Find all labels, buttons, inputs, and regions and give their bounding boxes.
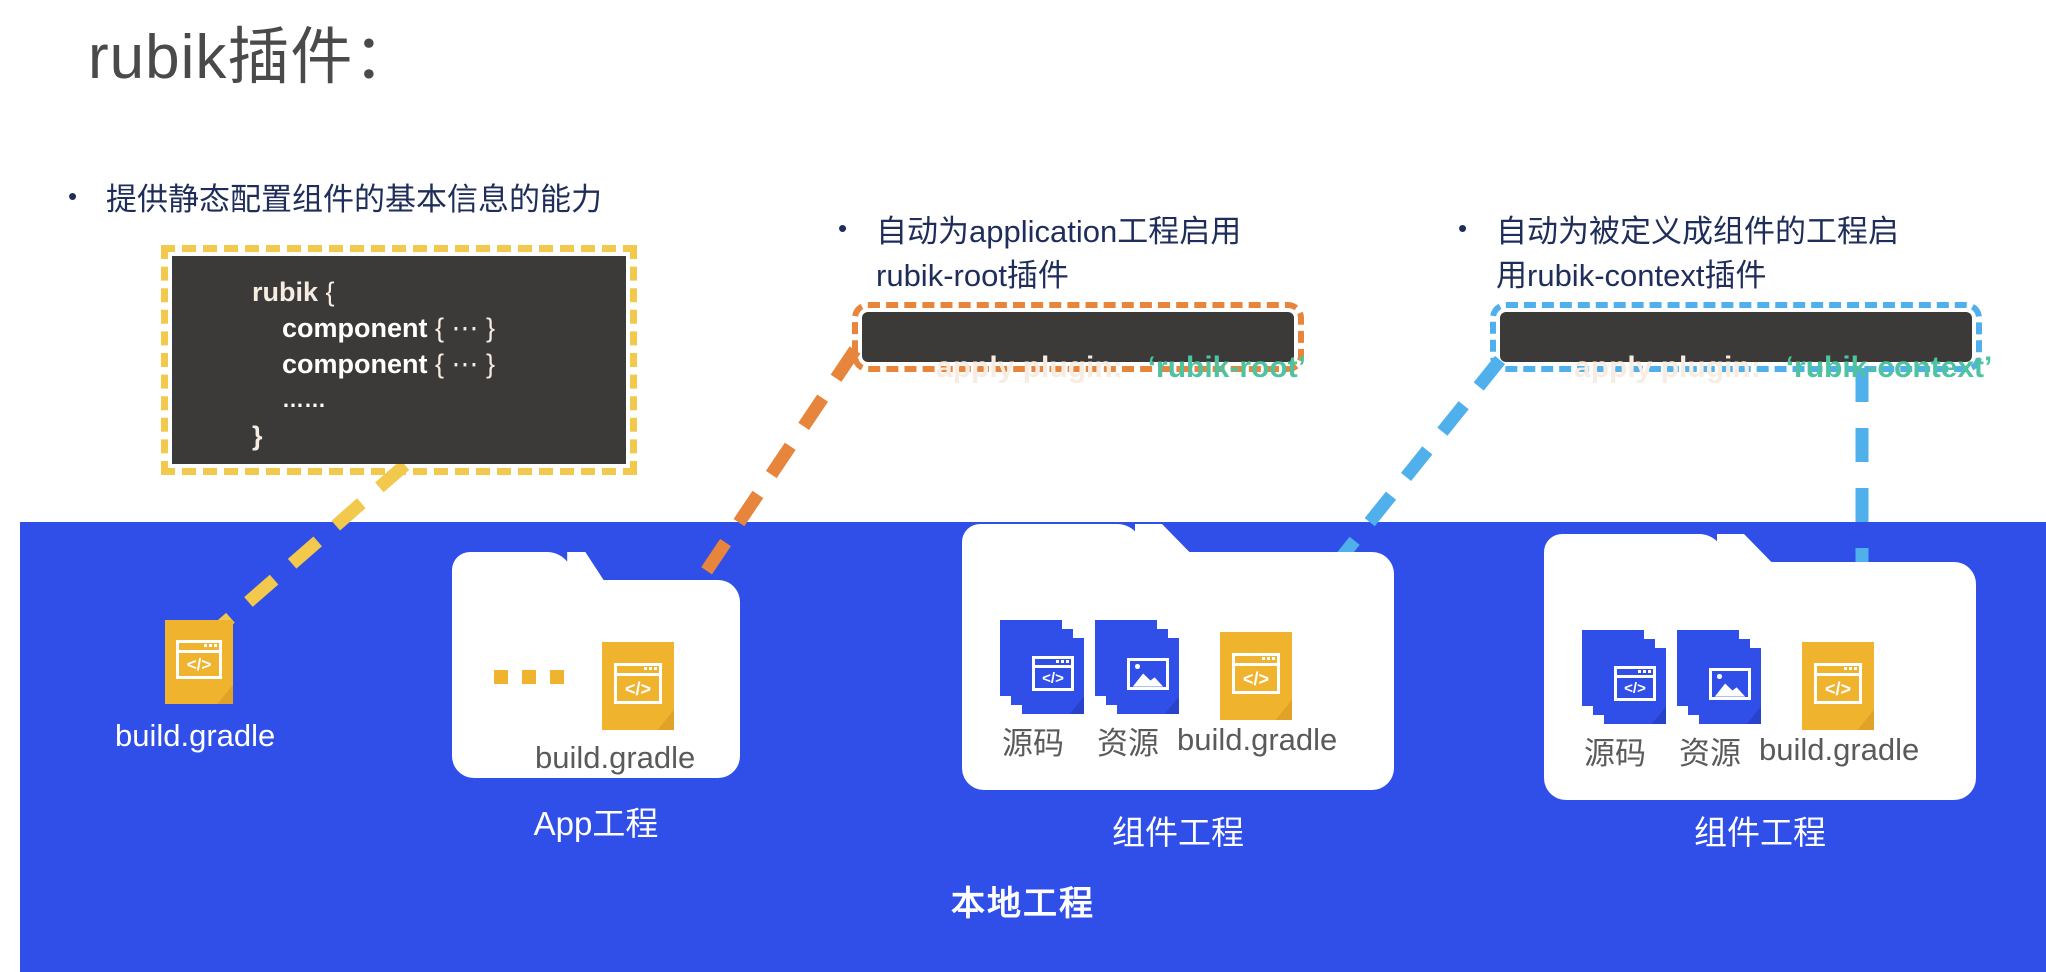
apply-statement: apply plugin: [936,351,1123,384]
resource-stack-icon [1095,620,1187,712]
bullet-label: 自动为被定义成组件的工程启用rubik-context插件 [1496,210,1928,298]
project-card-component-2: </> 源码 资源 [1544,562,1976,800]
code-file-icon: </> [1220,632,1292,720]
bullet-static-config: • 提供静态配置组件的基本信息的能力 [68,178,708,222]
window-titlebar [1035,659,1071,668]
image-mountain [1133,671,1163,687]
image-icon [1709,668,1751,700]
plugin-name: ‘rubik-root’ [1148,351,1306,384]
code-glyph: </> [617,676,660,700]
window-dots-icon [1638,670,1651,673]
code-glyph: </> [1235,666,1278,690]
code-window-icon: </> [614,663,663,703]
file-label: 源码 [1584,728,1646,773]
bullet-dot-icon: • [838,210,847,248]
code-line: rubik { [252,274,495,310]
panel-title: 本地工程 [0,876,2046,925]
code-window-icon: </> [176,640,222,679]
project-label-app: App工程 [452,797,740,845]
window-dots-icon [1056,660,1069,663]
window-dots-icon [1844,667,1857,670]
file-label: 源码 [1002,718,1064,763]
window-dots-icon [1262,657,1275,660]
project-card-app: </> build.gradle [452,580,740,778]
slide-canvas: rubik插件： • 提供静态配置组件的基本信息的能力 rubik { comp… [0,0,2046,972]
ellipsis-icon [494,670,564,684]
file-layer-front: </> [1022,638,1084,714]
window-titlebar [179,643,219,653]
bullet-dot-icon: • [68,178,77,216]
bullet-label: 提供静态配置组件的基本信息的能力 [106,178,708,222]
project-label-component-2: 组件工程 [1544,806,1976,854]
apply-rubik-context-code-block: apply plugin: ‘rubik-context’ [1500,312,1972,362]
code-glyph: </> [1617,678,1653,698]
image-sun [1717,674,1722,679]
folder-tab [962,524,1143,558]
file-label: 资源 [1097,718,1159,763]
code-window-icon: </> [1814,663,1863,703]
resource-stack-icon [1677,630,1769,722]
window-titlebar [1617,669,1653,678]
source-stack-icon: </> [1582,630,1674,722]
bullet-dot-icon: • [1458,210,1467,248]
project-label-component-1: 组件工程 [962,806,1394,854]
bullet-rubik-root: • 自动为application工程启用rubik-root插件 [838,210,1258,298]
code-window-icon: </> [1232,653,1281,693]
code-file-icon: </> [602,642,674,730]
image-icon [1127,658,1169,690]
code-glyph: </> [179,653,219,676]
image-mountain [1715,681,1745,697]
code-line: component { ⋯ } [282,310,495,346]
rubik-config-code-block: rubik { component { ⋯ } component { ⋯ } … [172,256,626,464]
code-glyph: </> [1035,668,1071,688]
code-file-icon: </> [165,620,233,704]
apply-rubik-root-code-block: apply plugin: ‘rubik-root’ [862,312,1294,362]
window-titlebar [617,666,660,676]
code-line: …… [282,382,495,418]
folder-tab [452,552,573,586]
window-titlebar [1817,666,1860,676]
page-title: rubik插件： [88,24,416,92]
file-label: 资源 [1679,728,1741,773]
folder-tab [1544,534,1725,568]
code-window-icon: </> [1032,656,1074,691]
source-stack-icon: </> [1000,620,1092,712]
code-window-icon: </> [1614,666,1656,701]
window-dots-icon [204,644,217,647]
project-card-component-1: </> 源码 资源 [962,552,1394,790]
code-glyph: </> [1817,676,1860,700]
file-label: build.gradle [1759,732,1919,768]
file-layer-front [1699,648,1761,724]
code-line: } [252,418,495,454]
file-label: build.gradle [115,718,275,754]
apply-statement: apply plugin: [1574,351,1761,384]
bullet-rubik-context: • 自动为被定义成组件的工程启用rubik-context插件 [1458,210,1928,298]
image-sun [1135,664,1140,669]
file-label: build.gradle [1177,722,1337,758]
code-file-icon: </> [1802,642,1874,730]
window-dots-icon [644,667,657,670]
file-label: build.gradle [535,740,695,776]
plugin-name: ‘rubik-context’ [1786,351,1993,384]
window-titlebar [1235,656,1278,666]
code-line: component { ⋯ } [282,346,495,382]
file-layer-front [1117,638,1179,714]
file-layer-front: </> [1604,648,1666,724]
bullet-label: 自动为application工程启用rubik-root插件 [876,210,1258,298]
